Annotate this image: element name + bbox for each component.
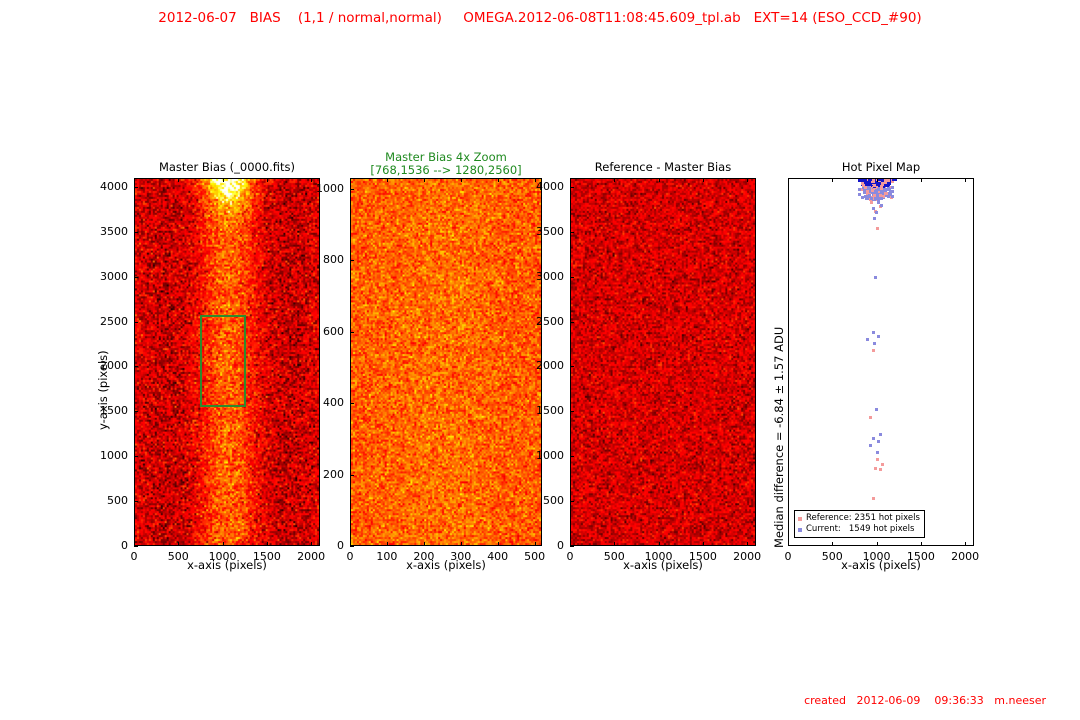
x-tick-label: 500 (808, 550, 856, 563)
x-tick-mark (461, 542, 462, 546)
y-tick-mark (570, 501, 574, 502)
x-tick-mark (178, 542, 179, 546)
x-tick-label: 500 (590, 550, 638, 563)
x-tick-mark (424, 178, 425, 182)
y-tick-label: 500 (82, 494, 128, 507)
x-tick-mark (178, 178, 179, 182)
y-tick-label: 1500 (82, 404, 128, 417)
x-tick-label: 1000 (199, 550, 247, 563)
y-tick-mark (350, 189, 354, 190)
x-tick-mark (659, 542, 660, 546)
y-tick-label: 3000 (82, 270, 128, 283)
y-tick-mark (570, 411, 574, 412)
y-tick-mark (570, 232, 574, 233)
x-tick-mark (877, 542, 878, 546)
y-tick-label: 600 (298, 325, 344, 338)
y-tick-label: 1000 (82, 449, 128, 462)
x-tick-mark (747, 542, 748, 546)
y-tick-label: 200 (298, 468, 344, 481)
x-tick-mark (387, 542, 388, 546)
y-tick-mark (570, 366, 574, 367)
x-tick-mark (703, 178, 704, 182)
x-tick-mark (570, 178, 571, 182)
x-tick-mark (877, 178, 878, 182)
x-tick-label: 1000 (635, 550, 683, 563)
x-tick-label: 1000 (853, 550, 901, 563)
x-tick-mark (223, 178, 224, 182)
y-tick-mark (134, 411, 138, 412)
y-tick-label: 500 (518, 494, 564, 507)
y-tick-mark (134, 232, 138, 233)
y-tick-label: 1500 (518, 404, 564, 417)
x-tick-mark (424, 542, 425, 546)
y-tick-mark (350, 403, 354, 404)
x-tick-mark (965, 542, 966, 546)
y-tick-mark (570, 546, 574, 547)
y-tick-mark (350, 475, 354, 476)
y-tick-label: 1000 (298, 182, 344, 195)
x-tick-mark (788, 542, 789, 546)
x-tick-label: 1500 (243, 550, 291, 563)
x-tick-mark (498, 542, 499, 546)
y-tick-label: 3500 (518, 225, 564, 238)
x-tick-mark (387, 178, 388, 182)
x-tick-mark (832, 178, 833, 182)
y-tick-mark (134, 277, 138, 278)
y-tick-label: 4000 (82, 180, 128, 193)
y-tick-label: 3500 (82, 225, 128, 238)
footer-created-stamp: created 2012-06-09 09:36:33 m.neeser (0, 694, 1080, 707)
y-tick-mark (350, 546, 354, 547)
y-tick-label: 0 (82, 539, 128, 552)
y-tick-mark (350, 332, 354, 333)
x-tick-mark (659, 178, 660, 182)
y-tick-mark (134, 322, 138, 323)
y-tick-mark (134, 456, 138, 457)
y-tick-label: 800 (298, 253, 344, 266)
y-tick-label: 0 (518, 539, 564, 552)
x-tick-label: 1500 (679, 550, 727, 563)
y-tick-label: 4000 (518, 180, 564, 193)
y-tick-mark (570, 277, 574, 278)
x-tick-mark (965, 178, 966, 182)
x-tick-mark (134, 178, 135, 182)
x-tick-mark (788, 178, 789, 182)
y-tick-label: 2000 (518, 359, 564, 372)
x-tick-mark (223, 542, 224, 546)
x-tick-label: 500 (154, 550, 202, 563)
x-tick-label: 2000 (941, 550, 989, 563)
x-tick-mark (350, 178, 351, 182)
x-tick-mark (747, 178, 748, 182)
x-tick-mark (498, 178, 499, 182)
y-tick-mark (350, 260, 354, 261)
x-tick-mark (614, 178, 615, 182)
x-tick-mark (461, 178, 462, 182)
y-tick-label: 3000 (518, 270, 564, 283)
y-tick-label: 0 (298, 539, 344, 552)
y-tick-mark (134, 501, 138, 502)
x-tick-mark (703, 542, 704, 546)
y-tick-label: 400 (298, 396, 344, 409)
y-tick-mark (570, 187, 574, 188)
y-tick-mark (134, 366, 138, 367)
axis-ticks-layer: 0500100015002000050010001500200025003000… (0, 0, 1080, 720)
y-tick-mark (570, 456, 574, 457)
x-tick-label: 0 (764, 550, 812, 563)
y-tick-mark (570, 322, 574, 323)
x-tick-mark (614, 542, 615, 546)
y-tick-label: 1000 (518, 449, 564, 462)
x-tick-mark (921, 542, 922, 546)
x-tick-mark (267, 178, 268, 182)
y-tick-label: 2000 (82, 359, 128, 372)
y-tick-mark (134, 546, 138, 547)
y-tick-label: 2500 (82, 315, 128, 328)
x-tick-mark (921, 178, 922, 182)
y-tick-mark (134, 187, 138, 188)
y-tick-label: 2500 (518, 315, 564, 328)
x-tick-mark (832, 542, 833, 546)
x-tick-label: 1500 (897, 550, 945, 563)
x-tick-mark (267, 542, 268, 546)
